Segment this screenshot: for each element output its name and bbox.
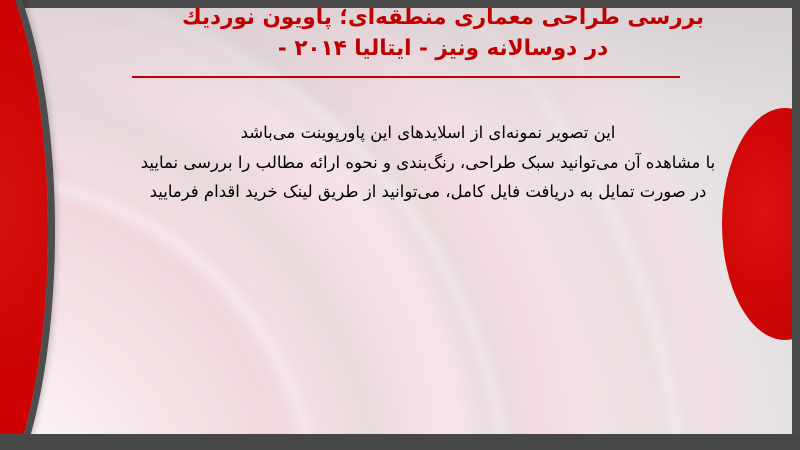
slide-body-text: این تصویر نمونه‌ای از اسلایدهای این پاور… [92,118,764,207]
slide-bottom-strip [0,434,800,450]
body-line-1: این تصویر نمونه‌ای از اسلایدهای این پاور… [92,118,764,148]
presentation-slide: بررسی طراحی معماری منطقه‌ای؛ پاویون نورد… [0,0,800,450]
title-underline-rule [132,76,680,78]
background-arc-texture [8,8,792,434]
body-line-2: با مشاهده آن می‌توانید سبک طراحی، رنگ‌بن… [92,148,764,178]
body-line-3: در صورت تمایل به دریافت فایل کامل، می‌تو… [92,177,764,207]
slide-canvas [8,8,792,434]
title-line-2: در دوسالانه ونیز - ایتالیا ۲۰۱۴ - [110,33,776,64]
slide-title: بررسی طراحی معماری منطقه‌ای؛ پاویون نورد… [110,2,776,64]
title-line-1: بررسی طراحی معماری منطقه‌ای؛ پاویون نورد… [110,2,776,33]
